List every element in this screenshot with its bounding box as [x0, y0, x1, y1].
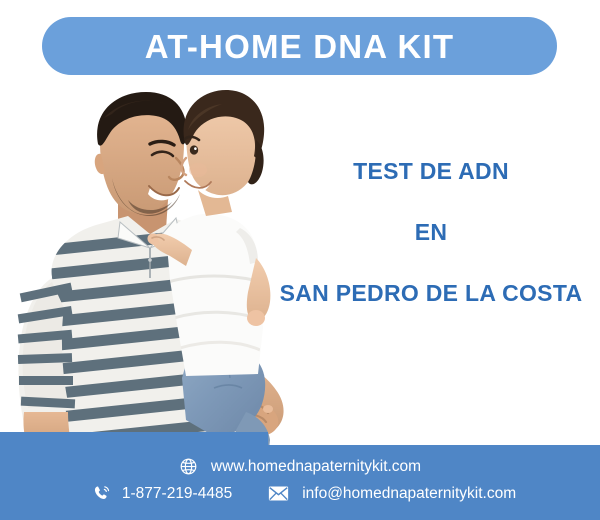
envelope-icon: [268, 485, 289, 502]
headline-line-2: EN: [262, 221, 600, 244]
footer-email-link[interactable]: info@homednapaternitykit.com: [268, 485, 516, 503]
headline-line-1: TEST DE ADN: [262, 160, 600, 183]
footer-website-text: www.homednapaternitykit.com: [211, 458, 421, 476]
phone-icon: [92, 484, 111, 503]
footer-website-link[interactable]: www.homednapaternitykit.com: [179, 457, 421, 476]
headline-line-3: SAN PEDRO DE LA COSTA: [262, 282, 600, 305]
footer-phone-link[interactable]: 1-877-219-4485: [92, 484, 232, 503]
footer-row-website: www.homednapaternitykit.com: [179, 457, 421, 476]
page-title: AT-HOME DNA KIT: [145, 30, 454, 63]
header-banner: AT-HOME DNA KIT: [42, 17, 557, 75]
footer-phone-text: 1-877-219-4485: [122, 485, 232, 503]
promo-card: AT-HOME DNA KIT: [0, 0, 600, 520]
footer-row-phone-email: 1-877-219-4485 info@homednapaternitykit.…: [84, 484, 516, 503]
globe-icon: [179, 457, 198, 476]
headline-block: TEST DE ADN EN SAN PEDRO DE LA COSTA: [262, 160, 600, 305]
footer-contact-info: www.homednapaternitykit.com 1-877-219-44…: [0, 432, 600, 520]
footer-email-text: info@homednapaternitykit.com: [302, 485, 516, 503]
